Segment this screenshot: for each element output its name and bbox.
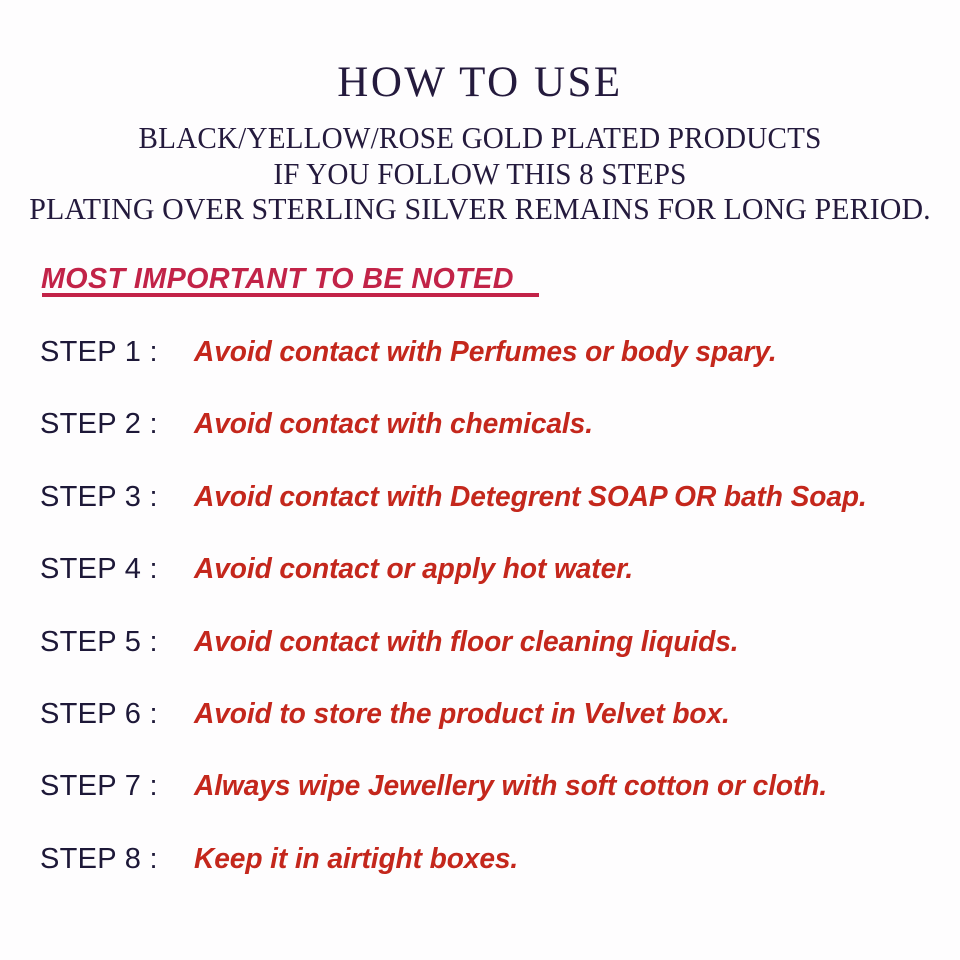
step-label-2: STEP 2 : [40, 407, 158, 441]
step-label-6: STEP 6 : [40, 697, 158, 731]
step-text-7: Always wipe Jewellery with soft cotton o… [194, 769, 827, 803]
step-label-7: STEP 7 : [40, 769, 158, 803]
care-instructions-poster: HOW TO USE BLACK/YELLOW/ROSE GOLD PLATED… [0, 0, 960, 960]
most-important-heading: MOST IMPORTANT TO BE NOTED [41, 262, 514, 296]
step-text-4: Avoid contact or apply hot water. [194, 552, 633, 586]
list-item: STEP 4 : Avoid contact or apply hot wate… [0, 552, 960, 624]
list-item: STEP 7 : Always wipe Jewellery with soft… [0, 769, 960, 841]
step-text-6: Avoid to store the product in Velvet box… [194, 697, 730, 731]
list-item: STEP 2 : Avoid contact with chemicals. [0, 407, 960, 479]
step-text-1: Avoid contact with Perfumes or body spar… [194, 335, 777, 369]
page-title: HOW TO USE [0, 58, 960, 108]
list-item: STEP 1 : Avoid contact with Perfumes or … [0, 335, 960, 407]
subtitle-block: BLACK/YELLOW/ROSE GOLD PLATED PRODUCTS I… [0, 120, 960, 227]
step-label-5: STEP 5 : [40, 625, 158, 659]
poster-header: HOW TO USE BLACK/YELLOW/ROSE GOLD PLATED… [0, 58, 960, 227]
steps-list: STEP 1 : Avoid contact with Perfumes or … [0, 335, 960, 914]
step-text-3: Avoid contact with Detegrent SOAP OR bat… [194, 480, 867, 514]
subtitle-line-1: BLACK/YELLOW/ROSE GOLD PLATED PRODUCTS [29, 120, 931, 156]
step-text-2: Avoid contact with chemicals. [194, 407, 593, 441]
list-item: STEP 3 : Avoid contact with Detegrent SO… [0, 480, 960, 552]
step-label-8: STEP 8 : [40, 842, 158, 876]
most-important-underline [42, 293, 539, 297]
step-label-1: STEP 1 : [40, 335, 158, 369]
list-item: STEP 8 : Keep it in airtight boxes. [0, 842, 960, 914]
step-text-8: Keep it in airtight boxes. [194, 842, 518, 876]
subtitle-line-3: PLATING OVER STERLING SILVER REMAINS FOR… [17, 191, 943, 227]
list-item: STEP 6 : Avoid to store the product in V… [0, 697, 960, 769]
step-label-3: STEP 3 : [40, 480, 158, 514]
step-label-4: STEP 4 : [40, 552, 158, 586]
step-text-5: Avoid contact with floor cleaning liquid… [194, 625, 739, 659]
subtitle-line-2: IF YOU FOLLOW THIS 8 STEPS [29, 156, 931, 191]
list-item: STEP 5 : Avoid contact with floor cleani… [0, 625, 960, 697]
